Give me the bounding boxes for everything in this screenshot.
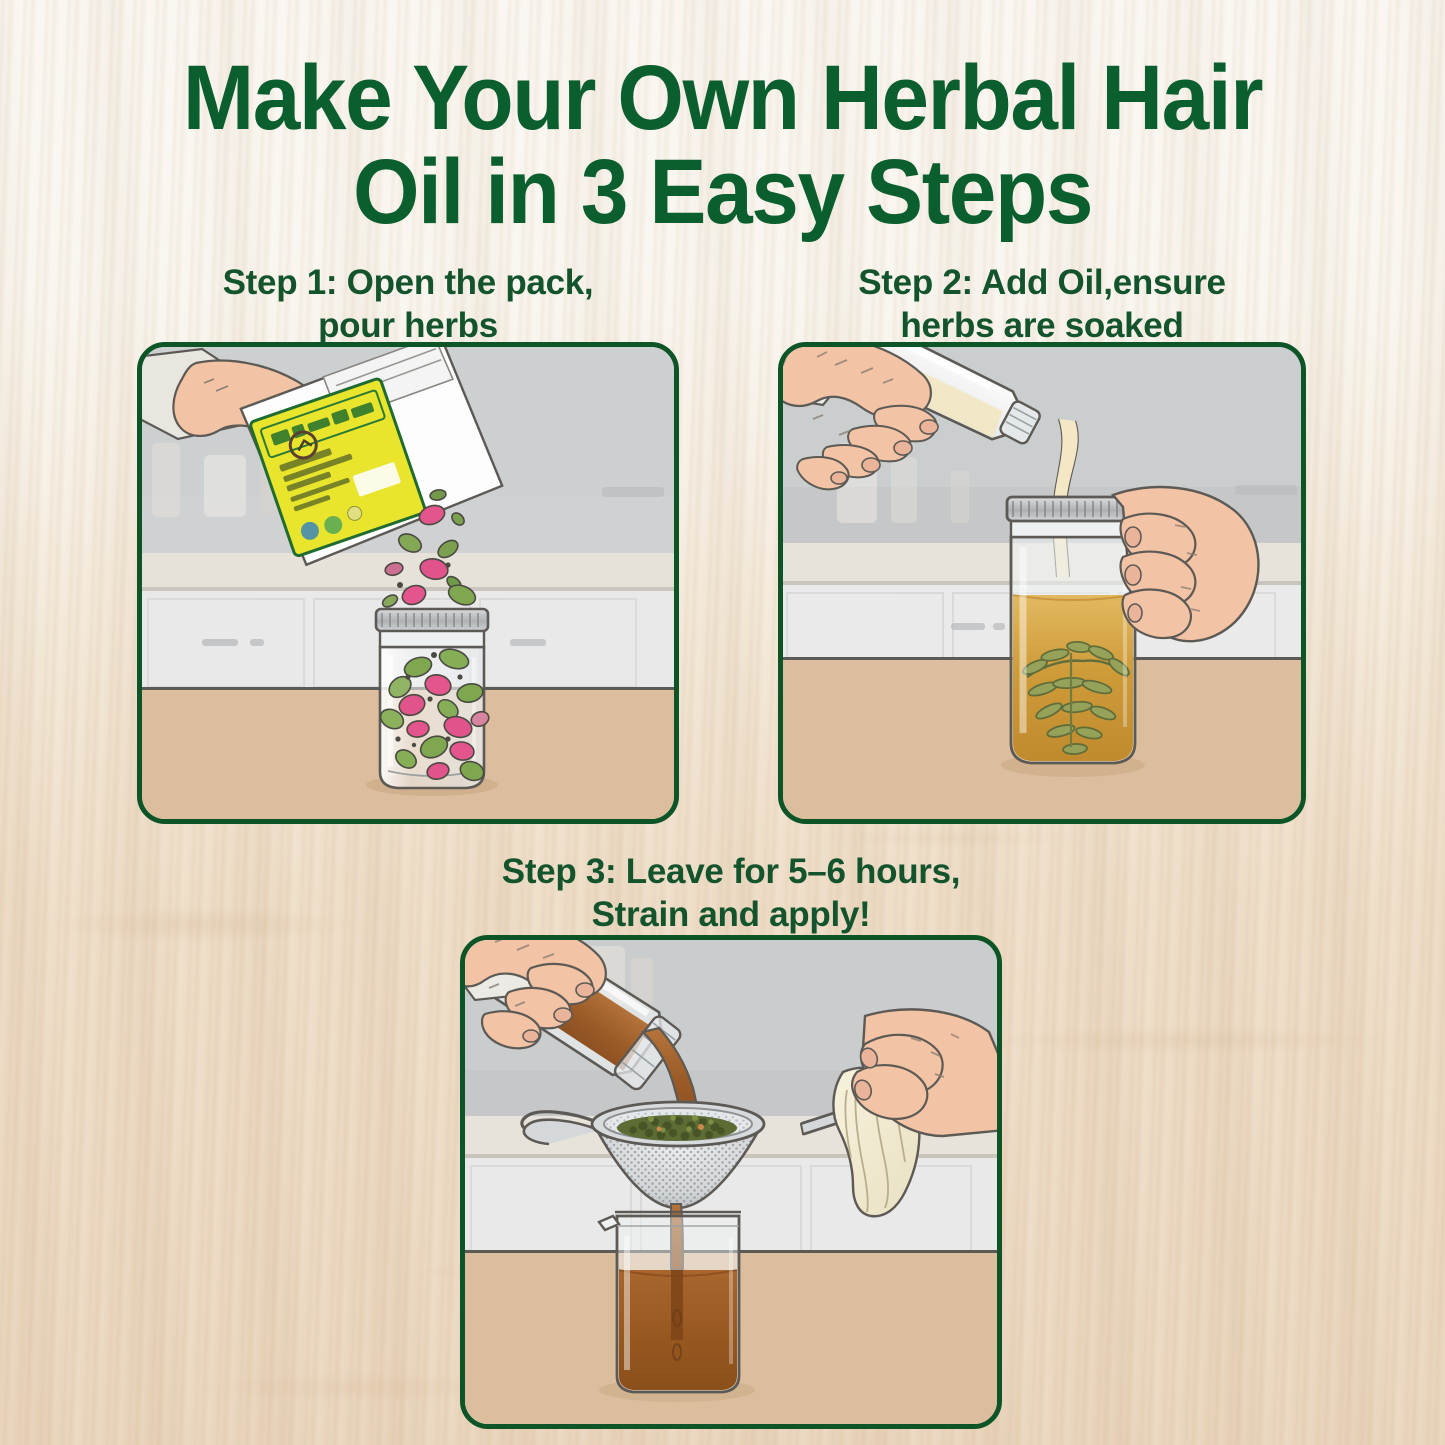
strained-herbs [617, 1115, 737, 1141]
step-2-illustration-panel [778, 342, 1306, 824]
glass-beaker [599, 1212, 755, 1402]
step-1-scene [142, 347, 674, 819]
step-3-scene [465, 940, 997, 1424]
step-2-scene [783, 347, 1301, 819]
step-1-illustration-panel [137, 342, 679, 824]
mason-jar [366, 609, 498, 796]
page-title: Make Your Own Herbal Hair Oil in 3 Easy … [51, 52, 1395, 240]
step-3-illustration-panel [460, 935, 1002, 1429]
step-2-caption: Step 2: Add Oil,ensure herbs are soaked [778, 262, 1306, 347]
step-1-caption: Step 1: Open the pack, pour herbs [137, 262, 679, 347]
step-3-caption: Step 3: Leave for 5–6 hours, Strain and … [460, 851, 1002, 936]
